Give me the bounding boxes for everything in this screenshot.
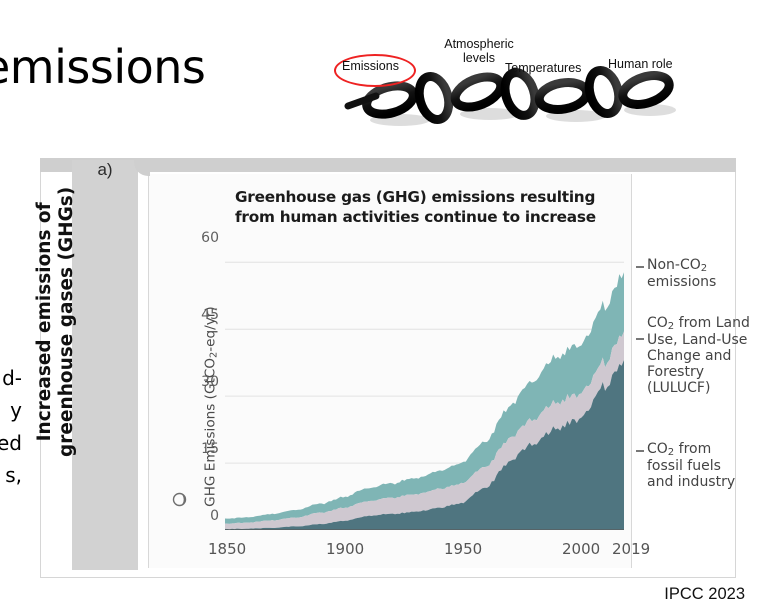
x-tick-2019: 2019	[612, 540, 650, 558]
legend-lulucf-line-5: (LULUCF)	[647, 380, 710, 396]
legend-lulucf-line-2: Use, Land-Use	[647, 332, 747, 348]
legend-fossil-line-3: and industry	[647, 474, 735, 490]
legend-non-co2-line-1: Non-CO2	[647, 257, 707, 273]
legend-label-fossil: CO2 from fossil fuels and industry	[647, 442, 735, 491]
chart-title-line-1: Greenhouse gas (GHG) emissions resulting	[235, 188, 595, 206]
x-axis-ticks: 1850 1900 1950 2000 2019	[150, 540, 650, 566]
atmospheric-line-1: Atmospheric	[444, 37, 513, 51]
x-tick-2000: 2000	[562, 540, 600, 558]
legend-dash-icon	[636, 338, 644, 340]
legend-dash-icon	[636, 450, 644, 452]
legend-label-lulucf: CO2 from Land Use, Land-Use Change and F…	[647, 316, 750, 397]
panel-side-title: Increased emissions of greenhouse gases …	[34, 172, 78, 472]
y-tick-15: 15	[201, 441, 219, 457]
legend-dash-icon	[636, 266, 644, 268]
causal-chain-diagram: Emissions Atmospheric levels Temperature…	[330, 28, 692, 132]
clipped-line-4: s,	[0, 459, 22, 491]
chain-label-temperatures: Temperatures	[505, 62, 581, 76]
legend-item-fossil: CO2 from fossil fuels and industry	[636, 442, 735, 491]
x-tick-1900: 1900	[326, 540, 364, 558]
legend-lulucf-line-3: Change and	[647, 348, 731, 364]
y-tick-0: 0	[210, 508, 219, 524]
chart-title-line-2: from human activities continue to increa…	[235, 208, 596, 226]
x-tick-1850: 1850	[208, 540, 246, 558]
clipped-line-2: y	[0, 394, 22, 426]
y-tick-45: 45	[201, 307, 219, 323]
legend-non-co2-line-2: emissions	[647, 274, 716, 290]
legend-item-lulucf: CO2 from Land Use, Land-Use Change and F…	[636, 316, 750, 397]
chart-plot-area	[225, 240, 624, 530]
legend-fossil-line-1: CO2 from	[647, 441, 711, 457]
x-tick-1950: 1950	[444, 540, 482, 558]
legend-lulucf-line-4: Forestry	[647, 364, 704, 380]
panel-letter: a)	[72, 160, 138, 180]
clipped-line-1: d-	[0, 362, 22, 394]
clipped-line-3: ed	[0, 427, 22, 459]
legend-item-non-co2: Non-CO2 emissions	[636, 258, 716, 291]
clipped-body-text: d- y ed s,	[0, 362, 22, 492]
y-tick-60: 60	[201, 230, 219, 246]
chain-label-human-role: Human role	[608, 58, 673, 72]
slide-canvas: emissions	[0, 0, 778, 616]
y-axis-ticks: 60 45 30 15 0	[155, 230, 219, 540]
panel-side-column	[72, 160, 138, 570]
panel-side-title-line-1: Increased emissions of	[34, 202, 55, 441]
chart-title: Greenhouse gas (GHG) emissions resulting…	[235, 188, 615, 227]
atmospheric-line-2: levels	[463, 51, 495, 65]
page-title: emissions	[0, 40, 205, 94]
legend-fossil-line-2: fossil fuels	[647, 458, 721, 474]
source-credit: IPCC 2023	[664, 585, 745, 604]
panel-side-title-line-2: greenhouse gases (GHGs)	[56, 187, 77, 457]
legend-lulucf-line-1: CO2 from Land	[647, 315, 750, 331]
stacked-area-chart	[225, 240, 624, 530]
y-tick-30: 30	[201, 374, 219, 390]
legend-label-non-co2: Non-CO2 emissions	[647, 258, 716, 291]
chain-label-emissions: Emissions	[342, 60, 399, 74]
